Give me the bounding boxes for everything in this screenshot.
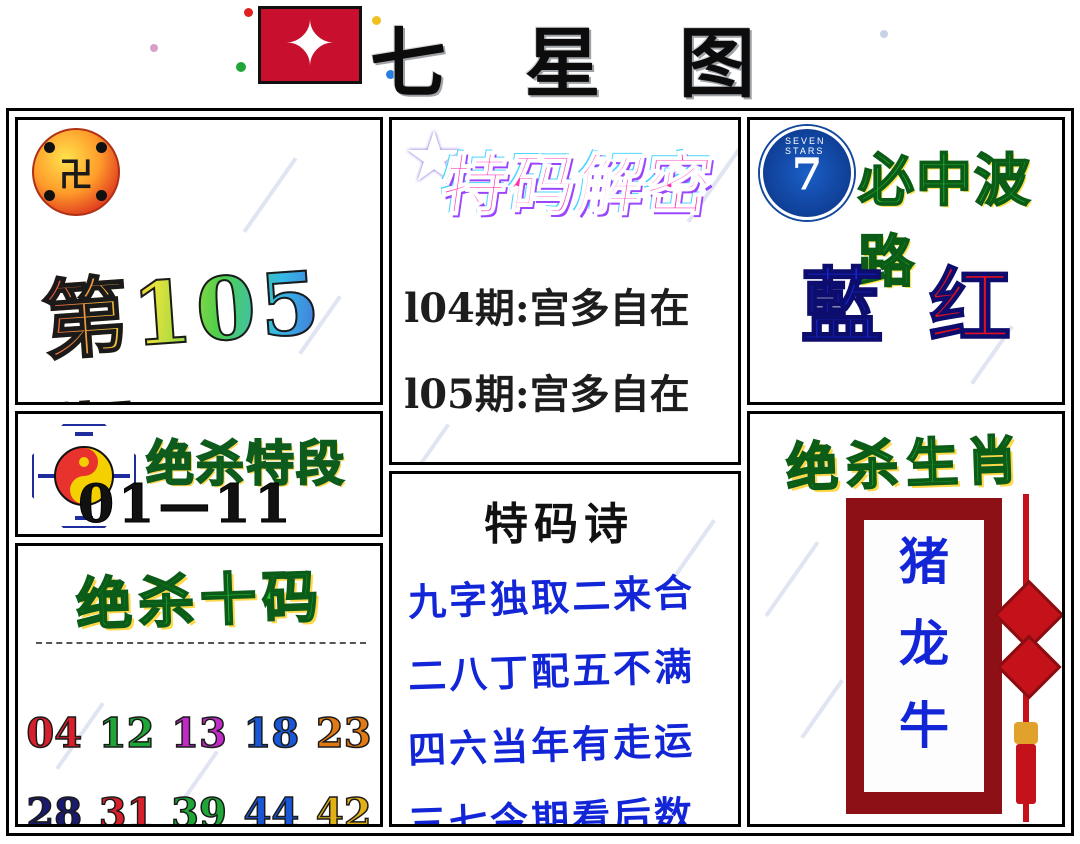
bozhong-panel: SEVEN STARS 7 必中波路 藍红	[747, 117, 1065, 405]
confetti-dot	[236, 62, 246, 72]
lottery-number: 23	[316, 710, 372, 757]
jueshaduan-range: 01—11	[78, 474, 295, 535]
lottery-number: 39	[171, 790, 227, 827]
jueshashima-row-1: 0412131823	[18, 710, 380, 757]
jueshashima-title: 绝杀十码	[75, 552, 326, 642]
four-point-star-icon: ✦	[284, 14, 336, 76]
shengxiao-animal: 猪	[899, 522, 949, 594]
confetti-dot	[150, 44, 158, 52]
wan-symbol-badge: 卍	[32, 128, 120, 216]
jueshashima-panel: 绝杀十码 0412131823 2831394442	[15, 543, 383, 827]
issue-number-label: 第105期	[38, 229, 383, 405]
wan-symbol-icon: 卍	[59, 148, 93, 197]
temashi-line-2: 二八丁配五不满	[407, 634, 729, 700]
lottery-number: 44	[244, 790, 300, 827]
seal-number: 7	[792, 149, 823, 200]
title-bar: ✦ 七 星 图	[0, 0, 1080, 104]
shengxiao-panel: 绝杀生肖 猪龙牛	[747, 411, 1065, 827]
lottery-number: 28	[26, 790, 82, 827]
shengxiao-animal-list: 猪龙牛	[864, 522, 984, 758]
content-frame: 卍 第105期 绝杀特段 01—11 绝杀十码	[6, 108, 1074, 836]
temajiemi-panel: ★ 特码解密 l04期:宫多自在 l05期:宫多自在	[389, 117, 741, 465]
jueshashima-row-2: 2831394442	[18, 790, 380, 827]
divider	[36, 642, 366, 644]
shengxiao-animal: 龙	[899, 604, 949, 676]
lottery-number: 13	[171, 710, 227, 757]
shengxiao-animal: 牛	[899, 686, 949, 758]
header-logo: ✦	[258, 6, 362, 84]
temashi-line-4: 三七今期看后数	[407, 782, 729, 827]
confetti-dot	[880, 30, 888, 38]
page-title: 七 星 图	[370, 2, 781, 112]
lottery-number: 31	[99, 790, 155, 827]
scroll-graphic: 猪龙牛	[846, 498, 1002, 814]
temashi-panel: 特码诗 九字独取二来合 二八丁配五不满 四六当年有走运 三七今期看后数	[389, 471, 741, 827]
bozhong-color-list: 藍红	[750, 240, 1062, 359]
temajiemi-line-2: l05期:宫多自在	[404, 362, 690, 420]
lottery-number: 04	[26, 710, 82, 757]
temashi-line-1: 九字独取二来合	[407, 560, 729, 626]
bozhong-color-label: 藍	[801, 240, 883, 359]
seven-stars-seal-icon: SEVEN STARS 7	[760, 126, 854, 220]
lottery-number: 12	[99, 710, 155, 757]
temashi-title: 特码诗	[484, 488, 634, 552]
bozhong-color-label: 红	[929, 240, 1011, 359]
lottery-number: 18	[244, 710, 300, 757]
shengxiao-title: 绝杀生肖	[785, 418, 1027, 501]
issue-panel: 卍 第105期	[15, 117, 383, 405]
chinese-knot-icon	[1002, 494, 1050, 822]
poster-root: ✦ 七 星 图 卍 第105期	[0, 0, 1080, 844]
jueshaduan-panel: 绝杀特段 01—11	[15, 411, 383, 537]
temajiemi-line-1: l04期:宫多自在	[404, 276, 690, 334]
confetti-dot	[244, 8, 253, 17]
lottery-number: 42	[316, 790, 372, 827]
temajiemi-title: 特码解密	[435, 132, 720, 228]
temashi-line-3: 四六当年有走运	[407, 708, 729, 774]
